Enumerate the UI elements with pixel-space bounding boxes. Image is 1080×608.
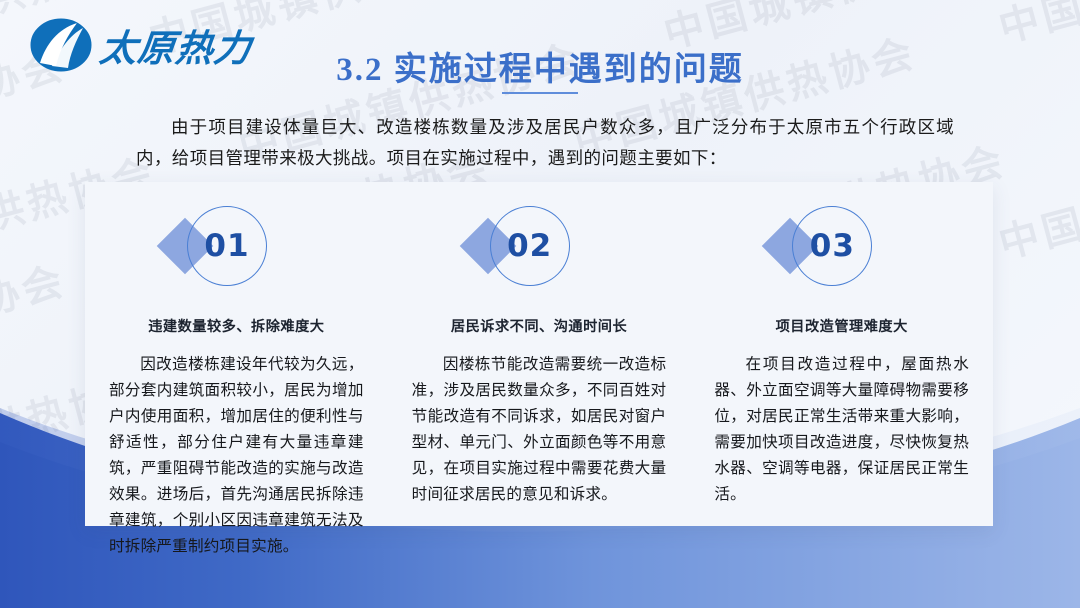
page-title: 3.2 实施过程中遇到的问题 <box>0 42 1080 90</box>
problem-body: 因改造楼栋建设年代较为久远，部分套内建筑面积较小，居民为增加户内使用面积，增加居… <box>109 352 364 560</box>
problem-body: 因楼栋节能改造需要统一改造标准，涉及居民数量众多，不同百姓对节能改造有不同诉求，… <box>412 352 667 508</box>
problem-body: 在项目改造过程中，屋面热水器、外立面空调等大量障碍物需要移位，对居民正常生活带来… <box>714 352 969 508</box>
problem-columns: 01 违建数量较多、拆除难度大 因改造楼栋建设年代较为久远，部分套内建筑面积较小… <box>85 182 993 526</box>
problem-heading: 项目改造管理难度大 <box>714 316 969 336</box>
problem-badge-02: 02 <box>468 204 667 290</box>
badge-number: 02 <box>490 206 570 286</box>
badge-number: 01 <box>187 206 267 286</box>
intro-paragraph: 由于项目建设体量巨大、改造楼栋数量及涉及居民户数众多，且广泛分布于太原市五个行政… <box>136 112 954 174</box>
problem-column-01: 01 违建数量较多、拆除难度大 因改造楼栋建设年代较为久远，部分套内建筑面积较小… <box>85 182 388 526</box>
title-underline <box>502 92 578 94</box>
slide-root: 中国城镇供热协会 中国城镇供热协会 中国城镇供热协会 中国城镇供热协会 中国城镇… <box>0 0 1080 608</box>
badge-number: 03 <box>792 206 872 286</box>
problem-heading: 违建数量较多、拆除难度大 <box>109 316 364 336</box>
problem-badge-03: 03 <box>770 204 969 290</box>
problem-column-03: 03 项目改造管理难度大 在项目改造过程中，屋面热水器、外立面空调等大量障碍物需… <box>690 182 993 526</box>
problem-badge-01: 01 <box>165 204 364 290</box>
problem-column-02: 02 居民诉求不同、沟通时间长 因楼栋节能改造需要统一改造标准，涉及居民数量众多… <box>388 182 691 526</box>
problem-heading: 居民诉求不同、沟通时间长 <box>412 316 667 336</box>
